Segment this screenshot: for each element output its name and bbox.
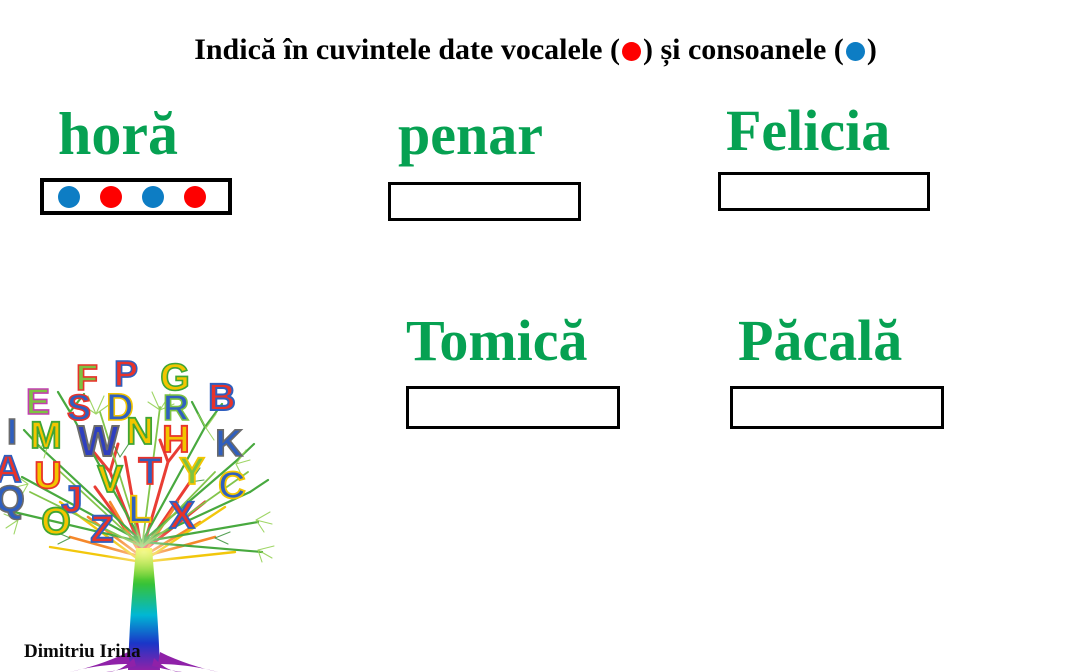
consonant-dot-icon <box>846 42 865 61</box>
tree-letter-V: V <box>97 459 123 501</box>
word-item-felicia: Felicia <box>718 102 930 211</box>
tree-letter-Z: Z <box>90 509 113 551</box>
tree-letter-M: M <box>30 415 62 457</box>
page-title: Indică în cuvintele date vocalele () și … <box>0 33 1071 67</box>
word-label: Felicia <box>718 102 930 160</box>
word-label: Tomică <box>406 312 620 370</box>
tree-letter-K: K <box>215 423 243 465</box>
word-item-tomica: Tomică <box>406 312 620 429</box>
word-label: penar <box>388 106 581 164</box>
alphabet-tree-illustration: F P G E S D R B I M N W H K A U V T Y C … <box>0 352 285 672</box>
tree-letter-L: L <box>128 489 151 531</box>
tree-letter-Q: Q <box>0 479 25 521</box>
answer-box-hora[interactable] <box>40 178 232 215</box>
answer-dot-consonant[interactable] <box>58 186 80 208</box>
answer-box-felicia[interactable] <box>718 172 930 211</box>
tree-letter-N: N <box>126 411 153 453</box>
author-watermark: Dimitriu Irina <box>24 641 141 663</box>
title-text-part1: Indică în cuvintele date vocalele ( <box>194 33 620 66</box>
word-item-penar: penar <box>388 106 581 221</box>
word-label: Păcală <box>730 312 944 370</box>
vowel-dot-icon <box>622 42 641 61</box>
answer-dot-vowel[interactable] <box>100 186 122 208</box>
tree-letter-U: U <box>34 455 61 497</box>
answer-box-tomica[interactable] <box>406 386 620 429</box>
tree-letter-X: X <box>169 495 195 537</box>
answer-dot-vowel[interactable] <box>184 186 206 208</box>
answer-box-pacala[interactable] <box>730 386 944 429</box>
tree-letter-I: I <box>7 411 17 452</box>
title-text-part2: ) și consoanele ( <box>643 33 844 66</box>
word-item-pacala: Păcală <box>730 312 944 429</box>
tree-letter-O: O <box>41 501 71 543</box>
tree-letter-B: B <box>208 377 235 419</box>
title-text-part3: ) <box>867 33 877 66</box>
tree-letter-C: C <box>218 465 245 507</box>
answer-box-penar[interactable] <box>388 182 581 221</box>
word-item-hora: horă <box>40 104 232 215</box>
word-label: horă <box>40 104 232 164</box>
tree-letter-Y: Y <box>179 451 204 493</box>
answer-dot-consonant[interactable] <box>142 186 164 208</box>
tree-letter-T: T <box>138 451 161 493</box>
